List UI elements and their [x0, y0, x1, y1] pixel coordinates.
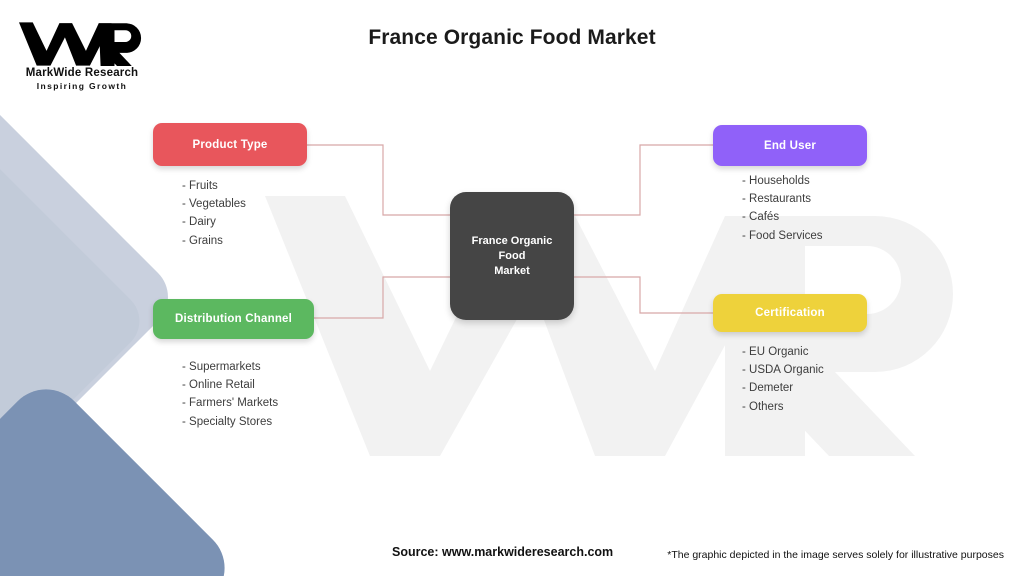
logo-brand-name: MarkWide Research [18, 67, 146, 79]
connector-distribution-channel [314, 277, 455, 318]
page-title: France Organic Food Market [0, 26, 1024, 50]
category-items-certification: - EU Organic - USDA Organic - Demeter - … [742, 343, 824, 416]
list-item: - Cafés [742, 208, 823, 226]
connector-end-user [569, 145, 713, 215]
list-item: - Others [742, 398, 824, 416]
list-item: - Demeter [742, 379, 824, 397]
connector-certification [569, 277, 713, 313]
center-node[interactable]: France Organic FoodMarket [450, 192, 574, 320]
category-items-distribution-channel: - Supermarkets - Online Retail - Farmers… [182, 358, 278, 431]
list-item: - Farmers' Markets [182, 394, 278, 412]
category-title-distribution-channel: Distribution Channel [175, 313, 292, 325]
list-item: - Specialty Stores [182, 413, 278, 431]
list-item: - EU Organic [742, 343, 824, 361]
category-items-end-user: - Households - Restaurants - Cafés - Foo… [742, 172, 823, 245]
footer-disclaimer: *The graphic depicted in the image serve… [667, 549, 1004, 561]
background-shape-light-secondary [0, 144, 152, 498]
list-item: - Food Services [742, 227, 823, 245]
center-node-label: France Organic FoodMarket [450, 234, 574, 279]
category-header-distribution-channel[interactable]: Distribution Channel [153, 299, 314, 339]
list-item: - Vegetables [182, 195, 246, 213]
list-item: - Supermarkets [182, 358, 278, 376]
connector-product-type [307, 145, 455, 215]
category-title-product-type: Product Type [192, 139, 267, 151]
category-items-product-type: - Fruits - Vegetables - Dairy - Grains [182, 177, 246, 250]
category-header-product-type[interactable]: Product Type [153, 123, 307, 166]
category-header-end-user[interactable]: End User [713, 125, 867, 166]
list-item: - Online Retail [182, 376, 278, 394]
list-item: - Fruits [182, 177, 246, 195]
list-item: - Dairy [182, 213, 246, 231]
footer-source: Source: www.markwideresearch.com [392, 545, 613, 559]
category-title-certification: Certification [755, 307, 825, 319]
category-title-end-user: End User [764, 140, 816, 152]
list-item: - Restaurants [742, 190, 823, 208]
category-header-certification[interactable]: Certification [713, 294, 867, 332]
slide-canvas: MarkWide Research Inspiring Growth Franc… [0, 0, 1024, 576]
list-item: - Grains [182, 232, 246, 250]
list-item: - Households [742, 172, 823, 190]
logo-tagline: Inspiring Growth [18, 81, 146, 91]
list-item: - USDA Organic [742, 361, 824, 379]
